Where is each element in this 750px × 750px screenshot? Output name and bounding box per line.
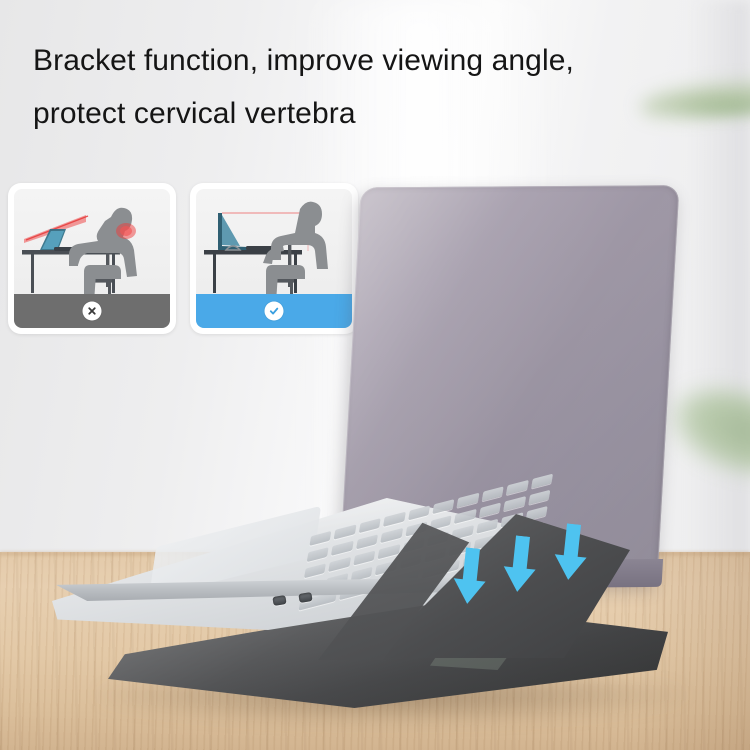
keyboard-key: [329, 557, 351, 572]
arrow-down-icon: [449, 546, 491, 607]
keyboard-key: [307, 547, 329, 562]
keyboard-key: [331, 541, 353, 556]
keyboard-key: [476, 519, 498, 534]
product-marketing-image: Bracket function, improve viewing angle,…: [0, 0, 750, 750]
arrow-down-icon: [550, 522, 592, 583]
keyboard-key: [356, 534, 378, 549]
product-photo: [0, 0, 750, 750]
keyboard-key: [479, 502, 501, 517]
arrow-down-icon: [499, 534, 541, 595]
keyboard-key: [304, 563, 326, 578]
keyboard-key: [528, 490, 550, 505]
keyboard-key: [380, 528, 402, 543]
keyboard-key: [454, 509, 476, 524]
keyboard-key: [353, 550, 375, 565]
keyboard-key: [503, 496, 525, 511]
